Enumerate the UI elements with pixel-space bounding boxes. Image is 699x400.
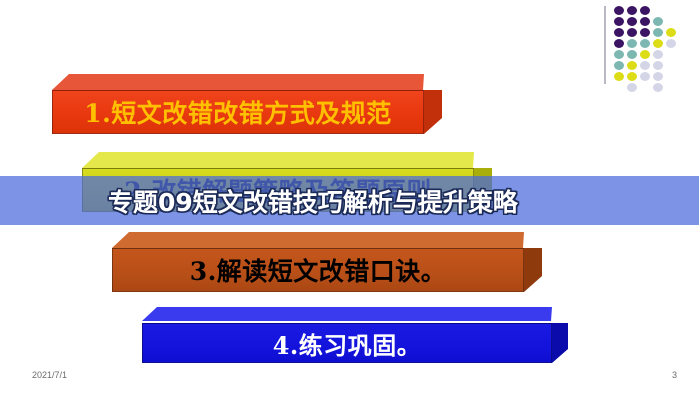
- logo-dot: [627, 72, 637, 81]
- logo-dot: [653, 28, 663, 37]
- logo-dot: [666, 39, 676, 48]
- logo-dot: [640, 50, 650, 59]
- agenda-box-3[interactable]: 3.解读短文改错口诀。: [112, 232, 524, 292]
- logo-dot: [666, 28, 676, 37]
- agenda-box-3-label: 3.解读短文改错口诀。: [190, 252, 447, 288]
- logo-dot: [614, 17, 624, 26]
- logo-dot: [640, 61, 650, 70]
- dot-grid-logo: [604, 4, 696, 92]
- logo-dot: [614, 6, 624, 15]
- logo-dot: [653, 39, 663, 48]
- logo-dot: [614, 72, 624, 81]
- logo-vertical-rule: [604, 6, 606, 84]
- logo-dot: [614, 28, 624, 37]
- footer-page-number: 3: [672, 370, 677, 380]
- box-3-top-face: [112, 232, 524, 248]
- box-2-top-face: [82, 152, 474, 168]
- agenda-box-4-label: 4.练习巩固。: [273, 326, 422, 361]
- agenda-box-1[interactable]: 1.短文改错改错方式及规范: [52, 74, 424, 134]
- logo-dot: [627, 61, 637, 70]
- logo-dot: [627, 17, 637, 26]
- title-overlay-band: 专题09短文改错技巧解析与提升策略: [0, 176, 699, 225]
- logo-dot: [653, 83, 663, 92]
- box-1-front-face: 1.短文改错改错方式及规范: [52, 90, 424, 134]
- box-3-front-face: 3.解读短文改错口诀。: [112, 248, 524, 292]
- logo-dot: [614, 50, 624, 59]
- slide-footer: 2021/7/1 3: [0, 364, 699, 400]
- logo-dot: [627, 39, 637, 48]
- logo-dot: [627, 83, 637, 92]
- slide-title: 专题09短文改错技巧解析与提升策略: [108, 183, 518, 219]
- logo-dot: [653, 50, 663, 59]
- logo-dot: [627, 6, 637, 15]
- slide-canvas: 1.短文改错改错方式及规范 2.改错解题策略及答题原则 专题09短文改错技巧解析…: [0, 0, 699, 400]
- box-1-top-face: [52, 74, 424, 90]
- agenda-box-1-label: 1.短文改错改错方式及规范: [84, 94, 392, 130]
- box-4-front-face: 4.练习巩固。: [142, 323, 552, 363]
- logo-dot: [640, 6, 650, 15]
- logo-dot: [640, 17, 650, 26]
- logo-dot: [627, 28, 637, 37]
- box-3-side-face: [524, 248, 542, 292]
- logo-dot: [614, 39, 624, 48]
- footer-date: 2021/7/1: [32, 370, 67, 380]
- box-4-side-face: [552, 323, 568, 363]
- logo-dot: [653, 72, 663, 81]
- logo-dot: [653, 17, 663, 26]
- logo-dot: [640, 28, 650, 37]
- logo-dot: [627, 50, 637, 59]
- box-4-top-face: [142, 307, 552, 321]
- logo-dot: [614, 61, 624, 70]
- agenda-box-4[interactable]: 4.练习巩固。: [142, 307, 552, 363]
- box-1-side-face: [424, 90, 442, 134]
- logo-dot: [640, 39, 650, 48]
- logo-dot: [640, 72, 650, 81]
- logo-dot: [653, 61, 663, 70]
